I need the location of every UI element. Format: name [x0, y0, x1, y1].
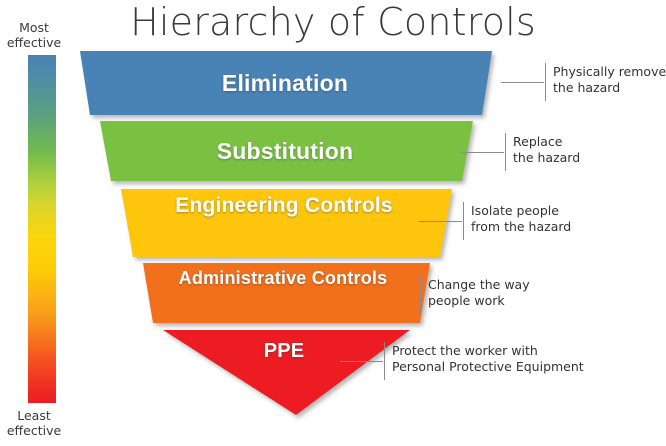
effectiveness-scale: Most effective Least effective [16, 20, 68, 440]
annotation-engineering-controls-line1: Isolate people [471, 203, 571, 219]
annotation-administrative-controls-text: Change the way people work [428, 277, 530, 309]
scale-label-least-effective-line2: effective [7, 423, 61, 438]
annotation-ppe-line1: Protect the worker with [392, 343, 584, 359]
annotation-administrative-controls-leader [376, 295, 419, 296]
page-title: Hierarchy of Controls [0, 0, 666, 46]
effectiveness-gradient-bar [28, 55, 56, 403]
annotation-ppe-text: Protect the worker with Personal Protect… [392, 343, 584, 375]
annotation-engineering-controls-leader [419, 221, 462, 222]
annotation-substitution-text: Replace the hazard [513, 134, 580, 166]
annotation-ppe-line2: Personal Protective Equipment [392, 359, 584, 375]
scale-label-most-effective-line2: effective [7, 35, 61, 50]
annotation-substitution-tick [505, 133, 506, 171]
annotation-elimination-line1: Physically remove [553, 64, 666, 80]
annotation-engineering-controls-tick [463, 202, 464, 240]
annotation-engineering-controls-line2: from the hazard [471, 219, 571, 235]
annotation-substitution-line1: Replace [513, 134, 580, 150]
annotation-administrative-controls-tick [420, 276, 421, 314]
scale-label-least-effective: Least effective [0, 408, 69, 438]
funnel-label-engineering-controls-line1: Engineering [175, 194, 299, 217]
annotation-administrative-controls-line2: people work [428, 293, 530, 309]
annotation-administrative-controls-line1: Change the way [428, 277, 530, 293]
annotation-ppe-leader [340, 361, 383, 362]
annotation-elimination-text: Physically remove the hazard [553, 64, 666, 96]
funnel-label-administrative-controls-line1: Administrative [179, 268, 307, 288]
funnel-label-elimination: Elimination [70, 71, 500, 96]
funnel-label-engineering-controls: Engineering Controls [70, 195, 498, 218]
funnel-label-administrative-controls-line2: Controls [312, 268, 388, 288]
annotation-elimination-leader [501, 82, 544, 83]
scale-label-least-effective-line1: Least [17, 408, 51, 423]
scale-label-most-effective-line1: Most [19, 20, 49, 35]
annotation-substitution-line2: the hazard [513, 150, 580, 166]
funnel-label-engineering-controls-line2: Controls [305, 194, 393, 217]
annotation-elimination-line2: the hazard [553, 80, 666, 96]
scale-label-most-effective: Most effective [0, 20, 69, 50]
funnel-label-substitution: Substitution [70, 139, 500, 164]
annotation-substitution-leader [461, 152, 504, 153]
annotation-engineering-controls-text: Isolate people from the hazard [471, 203, 571, 235]
annotation-elimination-tick [545, 63, 546, 101]
annotation-ppe-tick [384, 342, 385, 380]
